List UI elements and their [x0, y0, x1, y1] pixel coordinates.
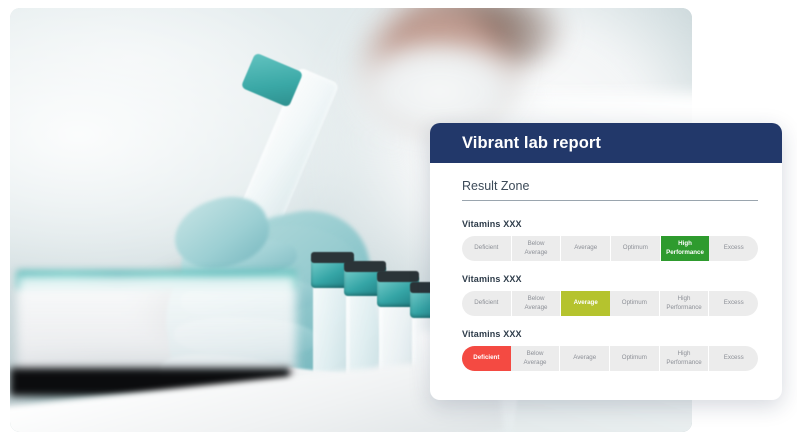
card-body: Result Zone Vitamins XXXDeficientBelowAv… [430, 163, 782, 371]
photo-rack-tube-cap-top [344, 261, 386, 272]
result-zone-segment[interactable]: HighPerformance [660, 291, 710, 316]
result-zone-segment[interactable]: BelowAverage [511, 346, 561, 371]
result-zone-segment[interactable]: Excess [709, 346, 758, 371]
result-zone-segment[interactable]: Excess [709, 236, 758, 261]
result-zone-label: Vitamins XXX [462, 274, 758, 284]
result-zone-row: Vitamins XXXDeficientBelowAverageAverage… [462, 274, 758, 316]
result-zone-segment[interactable]: HighPerformance [660, 346, 710, 371]
result-zone-segment[interactable]: Optimum [610, 346, 660, 371]
result-zone-segment[interactable]: Optimum [610, 291, 660, 316]
result-zone-bar: DeficientBelowAverageAverageOptimumHighP… [462, 291, 758, 316]
card-header: Vibrant lab report [430, 123, 782, 163]
result-zone-segment[interactable]: Excess [709, 291, 758, 316]
lab-report-card: Vibrant lab report Result Zone Vitamins … [430, 123, 782, 400]
result-zone-segment[interactable]: BelowAverage [512, 291, 562, 316]
result-zone-segment[interactable]: BelowAverage [512, 236, 562, 261]
result-zone-segment-active[interactable]: HighPerformance [661, 236, 710, 261]
result-zone-segment[interactable]: Average [561, 236, 611, 261]
photo-rack-tube-cap-top [377, 271, 419, 282]
result-zone-segment[interactable]: Deficient [462, 291, 512, 316]
result-zone-segment[interactable]: Optimum [611, 236, 661, 261]
result-zone-label: Vitamins XXX [462, 219, 758, 229]
result-zone-row: Vitamins XXXDeficientBelowAverageAverage… [462, 219, 758, 261]
result-zone-label: Vitamins XXX [462, 329, 758, 339]
result-zone-segment[interactable]: Deficient [462, 236, 512, 261]
result-zone-bar: DeficientBelowAverageAverageOptimumHighP… [462, 346, 758, 371]
result-zone-segment[interactable]: Average [560, 346, 610, 371]
section-divider [462, 200, 758, 201]
result-zone-bar: DeficientBelowAverageAverageOptimumHighP… [462, 236, 758, 261]
section-title: Result Zone [462, 179, 758, 200]
result-zone-segment-active[interactable]: Average [561, 291, 610, 316]
result-zone-list: Vitamins XXXDeficientBelowAverageAverage… [462, 219, 758, 371]
card-title: Vibrant lab report [462, 134, 601, 153]
result-zone-segment-active[interactable]: Deficient [462, 346, 511, 371]
photo-foreground-tube-rack [17, 275, 297, 377]
result-zone-row: Vitamins XXXDeficientBelowAverageAverage… [462, 329, 758, 371]
